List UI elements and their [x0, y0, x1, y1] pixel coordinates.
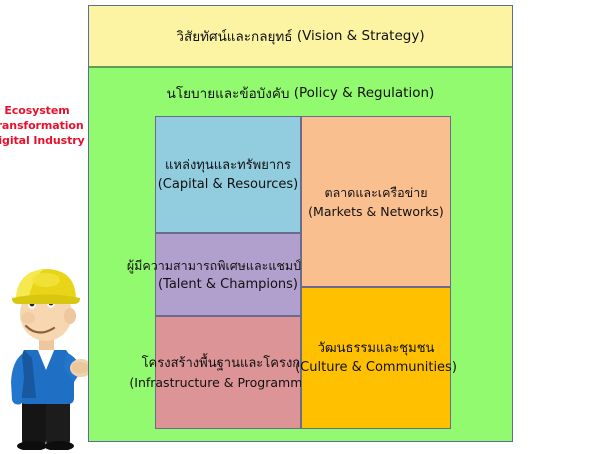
pillar-talent-champions: ผู้มีความสามารถพิเศษและแชมป์เปี้ยน (Tale… [155, 233, 301, 316]
engineer-character [2, 258, 92, 450]
pillar-markets-networks: ตลาดและเครือข่าย (Markets & Networks) [301, 116, 451, 287]
policy-regulation-band: นโยบายและข้อบังคับ (Policy & Regulation) [89, 70, 512, 116]
label-line-3: Digital Industry [0, 133, 92, 148]
pillar-capital-resources: แหล่งทุนและทรัพยากร (Capital & Resources… [155, 116, 301, 233]
ecosystem-diagram: วิสัยทัศน์และกลยุทธ์ (Vision & Strategy)… [88, 5, 513, 442]
pillar-markets-english: (Markets & Networks) [308, 202, 444, 221]
vision-strategy-band: วิสัยทัศน์และกลยุทธ์ (Vision & Strategy) [89, 6, 512, 68]
pillar-culture-communities: วัฒนธรรมและชุมชน (Culture & Communities) [301, 287, 451, 429]
pillar-infrastructure-programmers: โครงสร้างพื้นฐานและโครงการ (Infrastructu… [155, 316, 301, 429]
vision-strategy-english: (Vision & Strategy) [297, 28, 425, 44]
label-line-2: Transformation [0, 118, 92, 133]
policy-regulation-thai: นโยบายและข้อบังคับ [167, 82, 290, 104]
pillar-capital-thai: แหล่งทุนและทรัพยากร [165, 156, 291, 175]
policy-regulation-english: (Policy & Regulation) [294, 85, 435, 101]
ecosystem-transformation-label: Ecosystem Transformation Digital Industr… [0, 103, 92, 148]
pillar-culture-english: (Culture & Communities) [295, 358, 457, 377]
pillars-grid: แหล่งทุนและทรัพยากร (Capital & Resources… [155, 116, 451, 429]
pillar-culture-thai: วัฒนธรรมและชุมชน [318, 339, 435, 358]
pillar-infrastructure-thai: โครงสร้างพื้นฐานและโครงการ [142, 354, 315, 373]
pillar-talent-thai: ผู้มีความสามารถพิเศษและแชมป์เปี้ยน [127, 256, 329, 275]
pillar-markets-thai: ตลาดและเครือข่าย [324, 183, 427, 202]
label-line-1: Ecosystem [0, 103, 92, 118]
pillar-capital-english: (Capital & Resources) [158, 175, 299, 194]
vision-strategy-thai: วิสัยทัศน์และกลยุทธ์ [176, 25, 292, 47]
pillar-talent-english: (Talent & Champions) [158, 275, 298, 294]
